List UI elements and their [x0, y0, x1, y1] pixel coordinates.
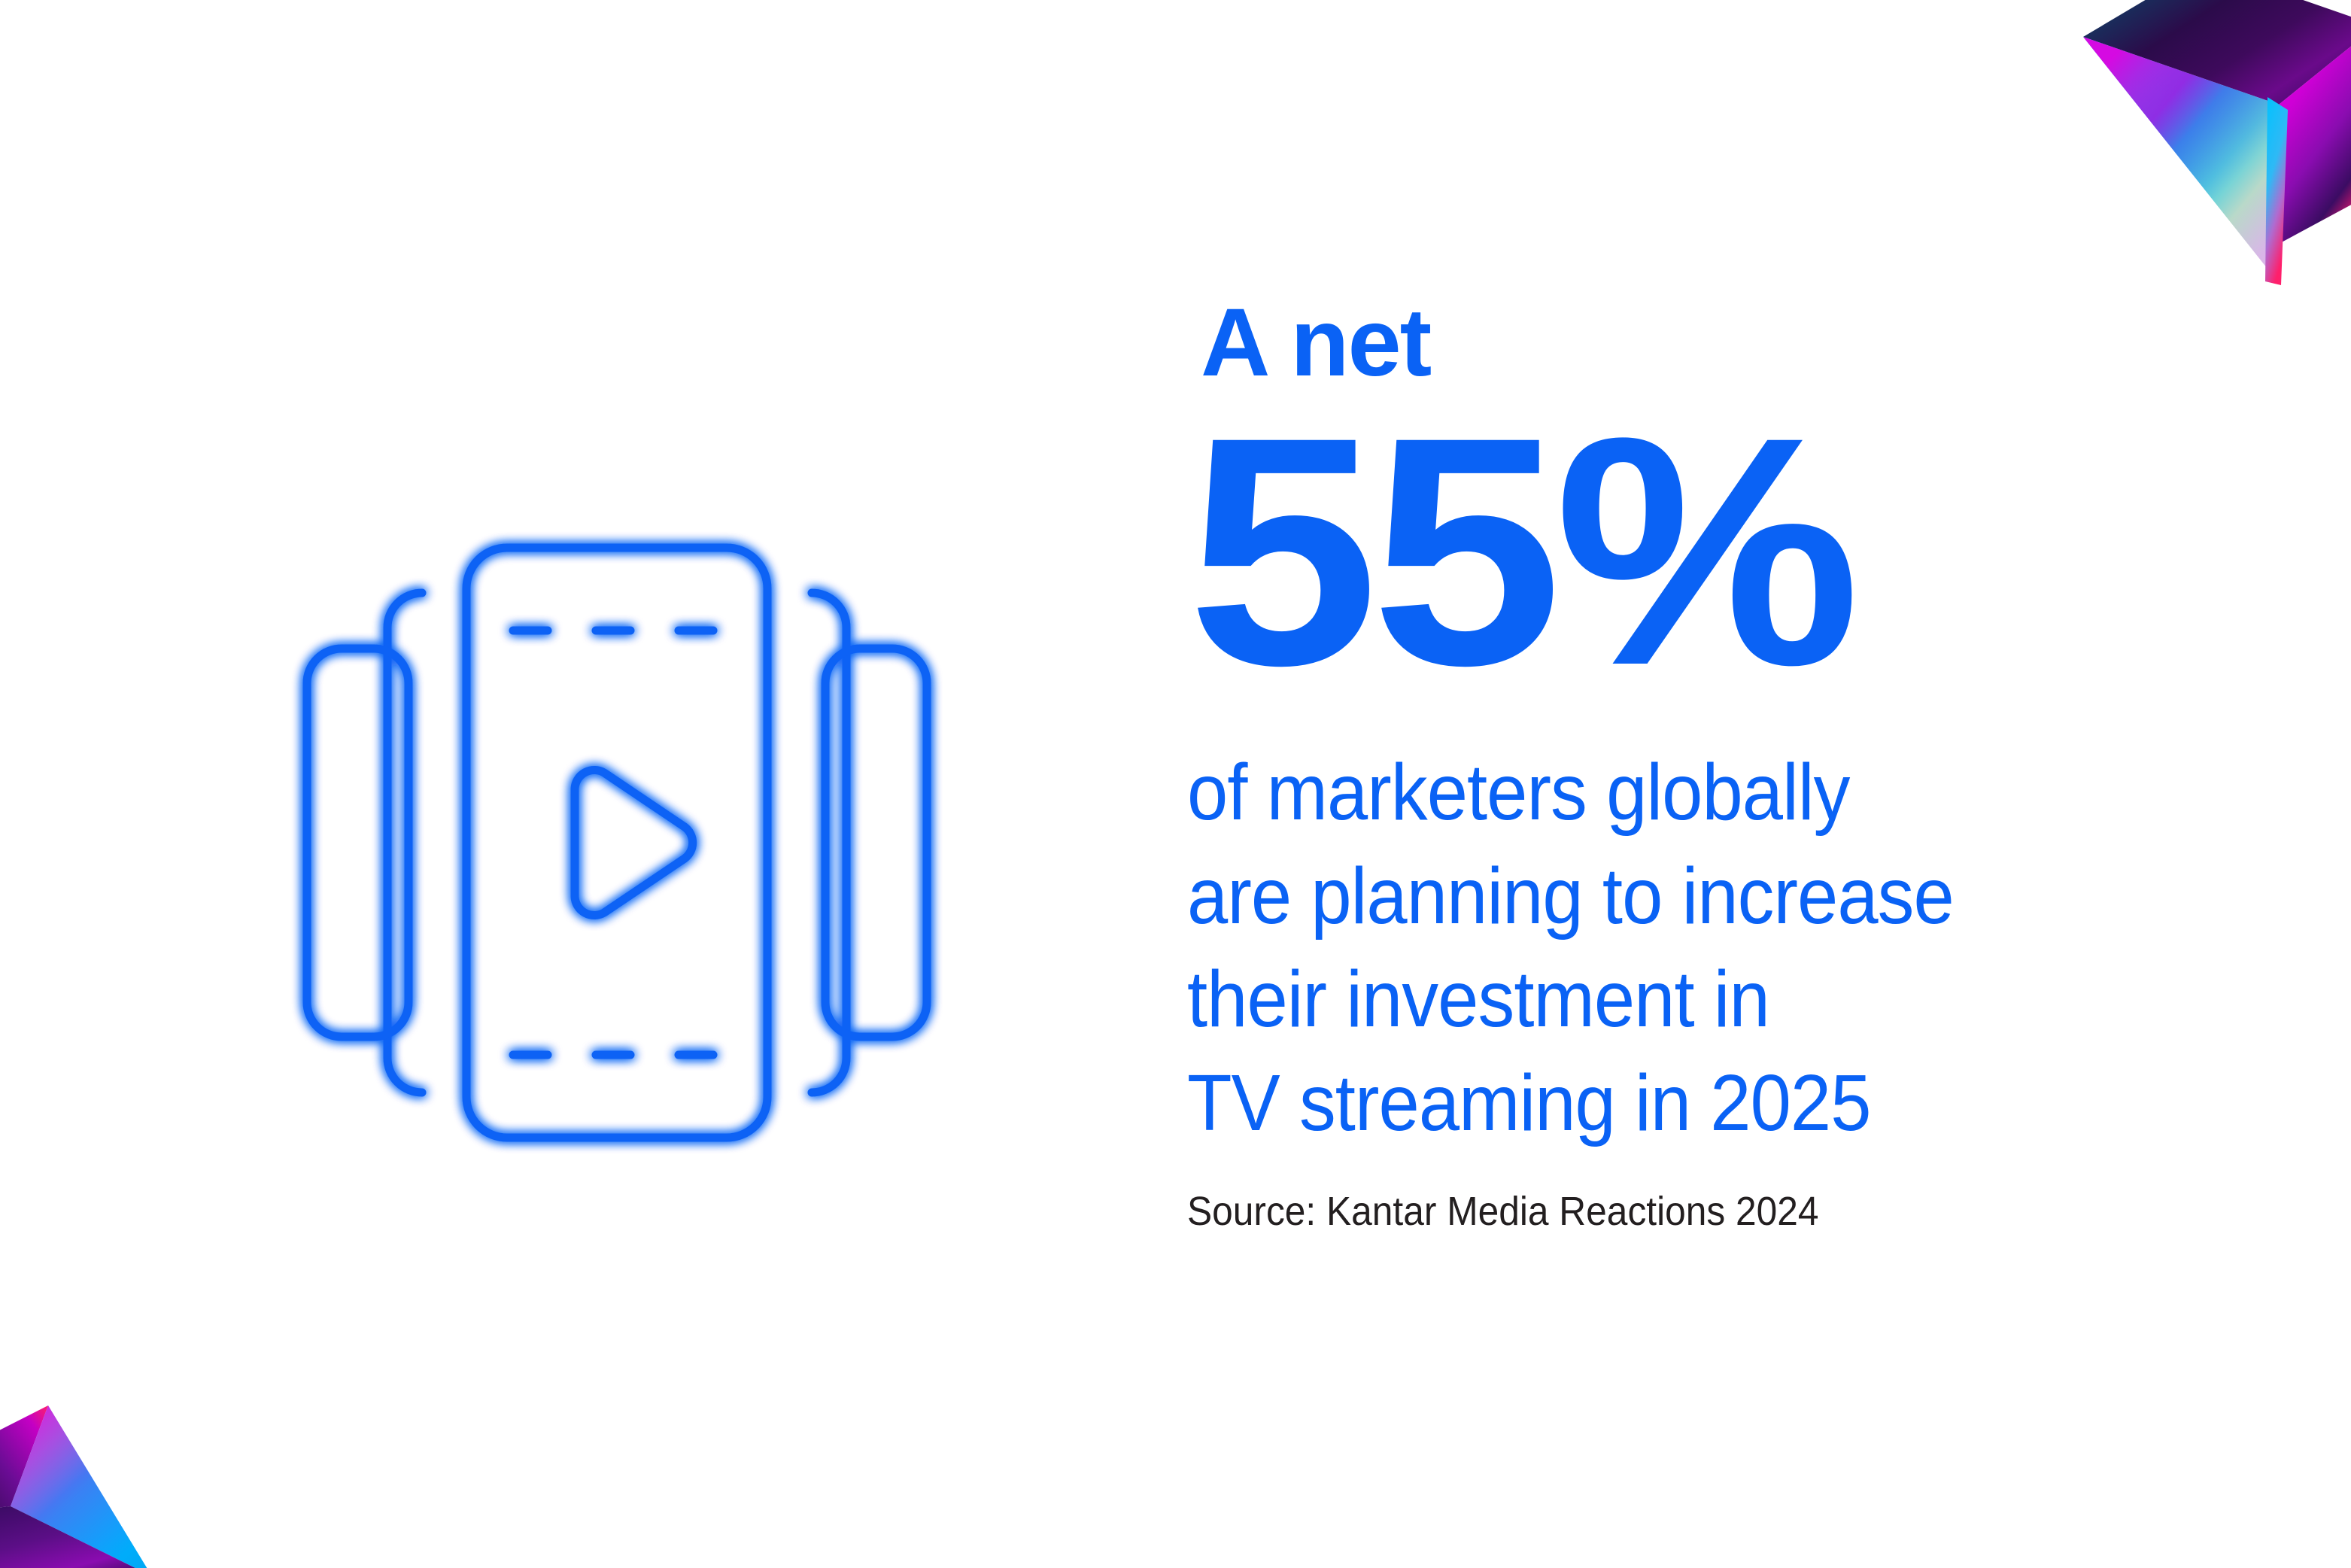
stat-text-block: A net 55% of marketers globally are plan…: [1187, 295, 2286, 1236]
echo-panel-right-inner: [825, 649, 927, 1037]
device-screen-outline: [466, 548, 767, 1138]
lede-line-3: their investment in: [1187, 948, 2198, 1052]
gradient-prism-bottom-left-icon: [0, 1392, 175, 1568]
statistic-value: 55%: [1187, 396, 2351, 708]
gradient-prism-top-right-icon: [2053, 0, 2351, 289]
play-triangle-icon: [575, 770, 693, 915]
echo-panel-left-inner: [307, 649, 409, 1037]
infographic-canvas: A net 55% of marketers globally are plan…: [0, 0, 2351, 1568]
source-attribution: Source: Kantar Media Reactions 2024: [1187, 1187, 2198, 1236]
lede-line-4: TV streaming in 2025: [1187, 1052, 2198, 1156]
lede-line-1: of marketers globally: [1187, 741, 2198, 845]
lede-paragraph: of marketers globally are planning to in…: [1187, 741, 2198, 1156]
lede-line-2: are planning to increase: [1187, 845, 2198, 949]
tv-streaming-play-icon: [248, 519, 986, 1166]
